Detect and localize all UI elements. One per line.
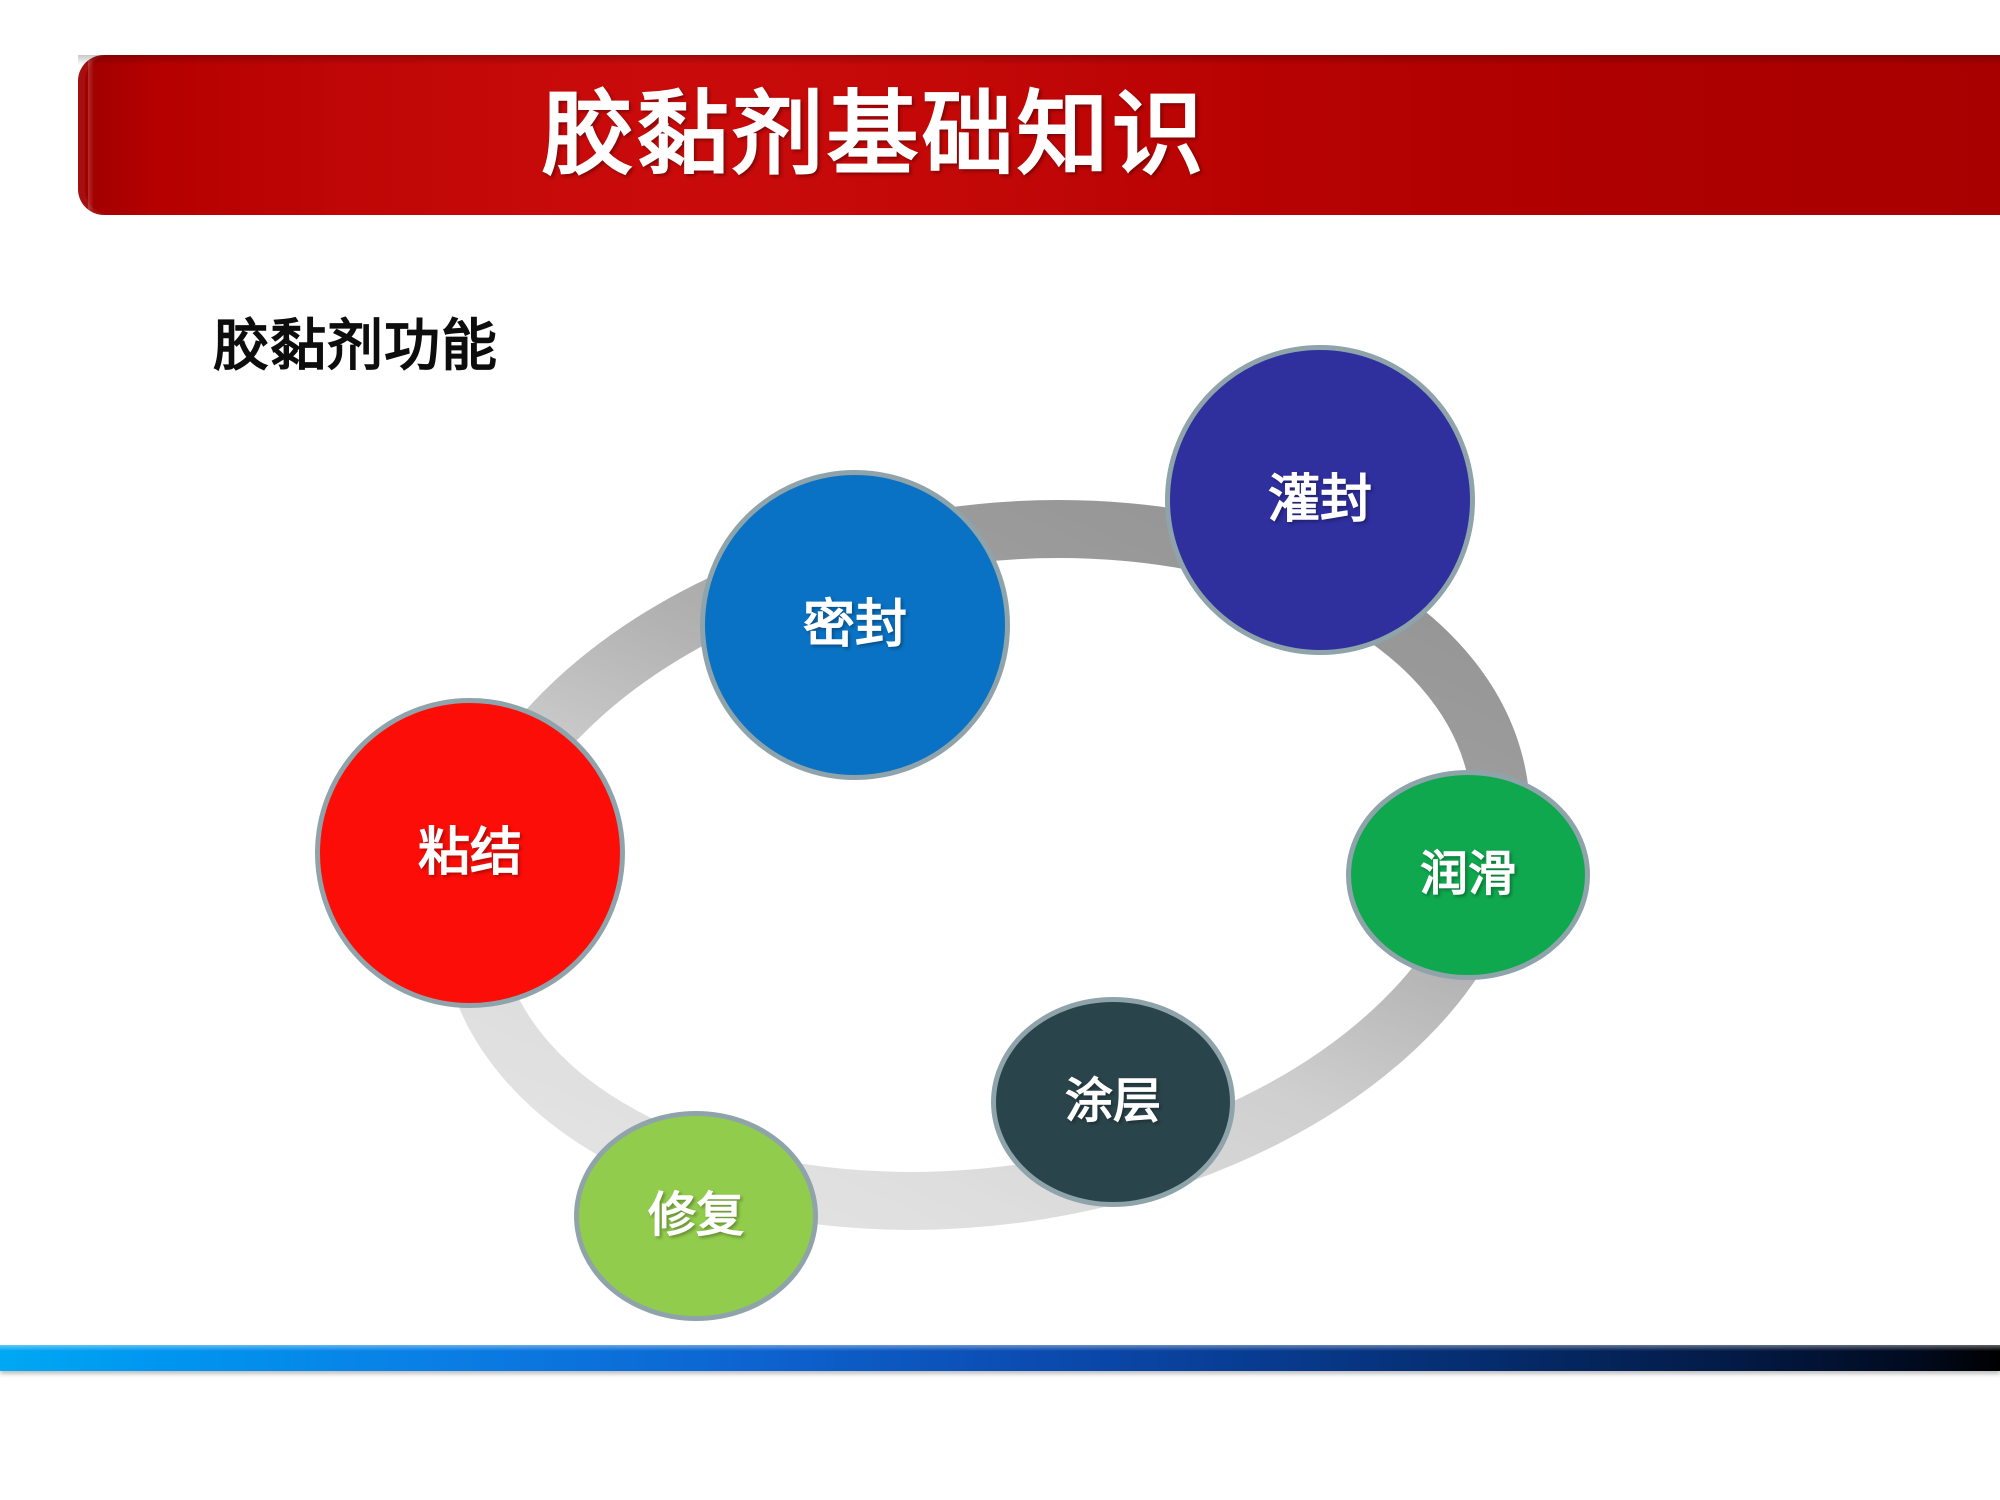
cycle-node-zhanjie[interactable]: 粘结 (315, 698, 625, 1008)
cycle-node-label: 灌封 (1268, 474, 1372, 526)
cycle-node-guanfeng[interactable]: 灌封 (1165, 345, 1475, 655)
cycle-node-xiufu[interactable]: 修复 (574, 1111, 818, 1321)
bottom-accent-bar (0, 1345, 2000, 1371)
cycle-node-label: 修复 (648, 1192, 744, 1240)
cycle-diagram (0, 0, 2000, 1500)
page-title: 胶黏剂基础知识 (78, 89, 2000, 181)
cycle-node-label: 密封 (803, 599, 907, 651)
section-heading: 胶黏剂功能 (213, 318, 498, 374)
cycle-node-label: 粘结 (418, 827, 522, 879)
slide-title-banner: 胶黏剂基础知识 (78, 55, 2000, 215)
cycle-node-runhua[interactable]: 润滑 (1346, 770, 1590, 980)
cycle-node-label: 涂层 (1065, 1078, 1161, 1126)
cycle-node-label: 润滑 (1420, 851, 1516, 899)
cycle-node-tuceng[interactable]: 涂层 (991, 997, 1235, 1207)
cycle-node-mifeng[interactable]: 密封 (700, 470, 1010, 780)
